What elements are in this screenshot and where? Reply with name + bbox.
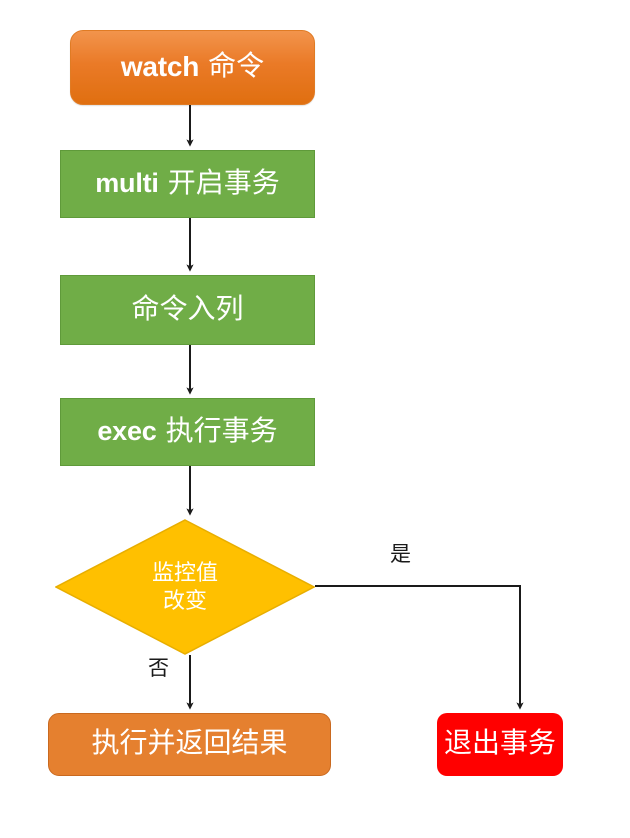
node-exit-transaction[interactable]: 退出事务	[437, 713, 563, 776]
connector-decision-to-exit	[315, 586, 520, 706]
node-command-enqueue[interactable]: 命令入列	[60, 275, 315, 345]
node-watch-command-label: 命令	[208, 51, 264, 83]
node-command-enqueue-label: 命令入列	[131, 294, 243, 326]
node-execute-and-return-result[interactable]: 执行并返回结果	[48, 713, 331, 776]
node-exec-run-transaction[interactable]: exec 执行事务	[60, 398, 315, 466]
node-watch-command[interactable]: watch 命令	[70, 30, 315, 105]
node-exit-transaction-label: 退出事务	[444, 728, 556, 760]
node-exec-label: 执行事务	[166, 416, 278, 448]
node-execute-and-return-result-label: 执行并返回结果	[91, 728, 287, 760]
flowchart-canvas: watch 命令 multi 开启事务 命令入列 exec 执行事务 监控值 改…	[0, 0, 630, 838]
node-decision-label: 监控值 改变	[152, 559, 218, 615]
node-decision-label-line2: 改变	[152, 587, 218, 615]
node-decision-watched-value-changed[interactable]: 监控值 改变	[55, 519, 315, 655]
node-exec-keyword: exec	[97, 416, 156, 447]
node-decision-label-line1: 监控值	[152, 559, 218, 587]
node-multi-label: 开启事务	[168, 168, 280, 200]
node-multi-keyword: multi	[95, 168, 159, 199]
node-multi-begin-transaction[interactable]: multi 开启事务	[60, 150, 315, 218]
edge-label-yes: 是	[390, 544, 411, 565]
edge-label-no: 否	[148, 658, 169, 679]
node-watch-command-keyword: watch	[121, 51, 199, 83]
